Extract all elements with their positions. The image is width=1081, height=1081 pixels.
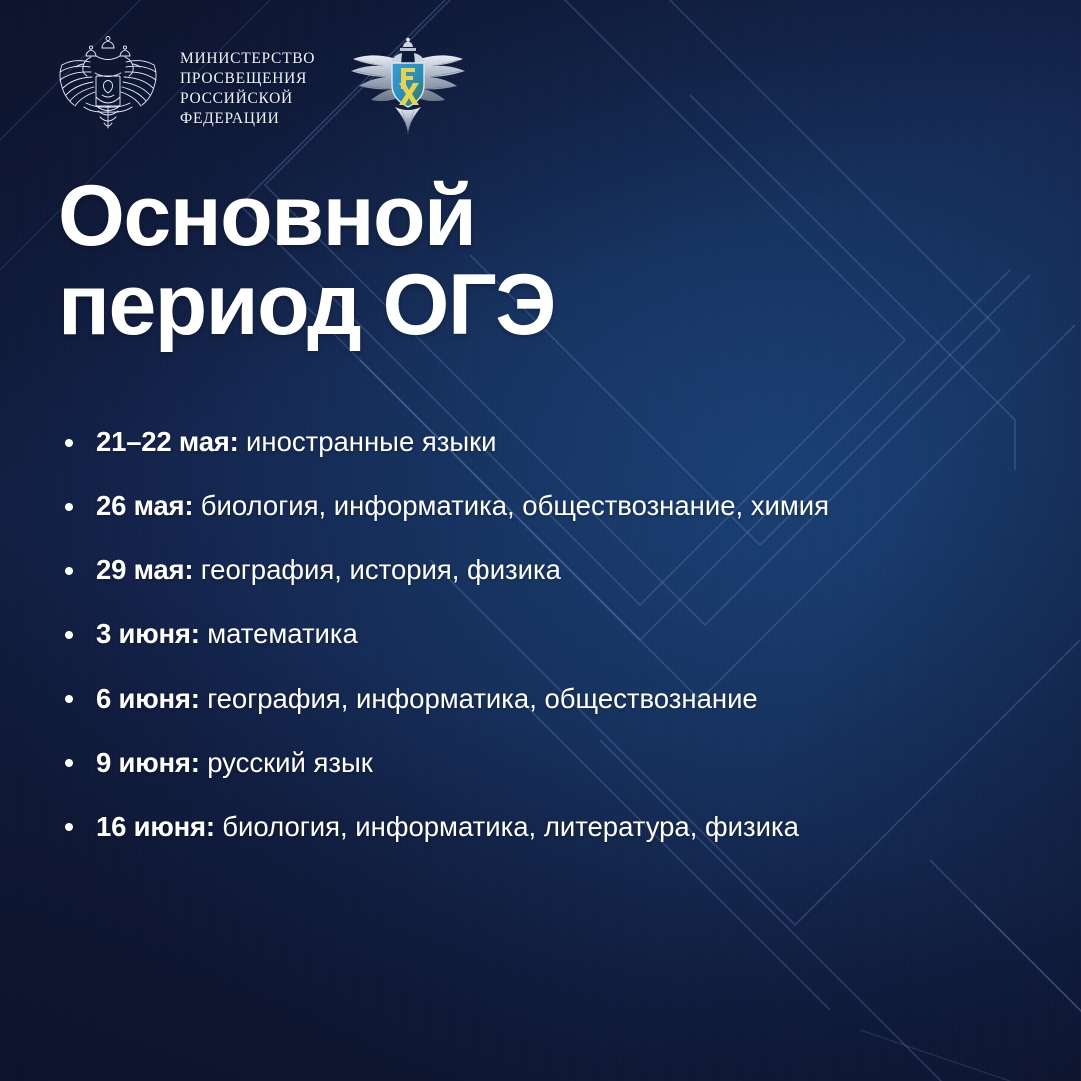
list-item: 29 мая: география, история, физика (60, 550, 1060, 590)
poster-root: МИНИСТЕРСТВО ПРОСВЕЩЕНИЯ РОССИЙСКОЙ ФЕДЕ… (0, 0, 1081, 1081)
exam-date: 26 мая: (96, 490, 201, 521)
list-item: 6 июня: география, информатика, общество… (60, 679, 1060, 719)
ministry-name: МИНИСТЕРСТВО ПРОСВЕЩЕНИЯ РОССИЙСКОЙ ФЕДЕ… (180, 49, 315, 130)
exam-date: 21–22 мая: (96, 426, 246, 457)
page-title: Основной период ОГЭ (58, 172, 918, 351)
list-item: 26 мая: биология, информатика, обществоз… (60, 486, 1060, 526)
winged-shield-icon (347, 37, 469, 141)
exam-subjects: иностранные языки (246, 426, 497, 457)
exam-date: 6 июня: (96, 683, 207, 714)
bullet-icon (65, 823, 73, 831)
ministry-name-line-3: РОССИЙСКОЙ (180, 89, 315, 109)
bullet-icon (65, 567, 73, 575)
page-title-line-1: Основной (58, 172, 918, 261)
exam-date: 3 июня: (96, 618, 207, 649)
bullet-icon (65, 631, 73, 639)
exam-subjects: математика (207, 618, 358, 649)
exam-date: 29 мая: (96, 554, 201, 585)
header-logos: МИНИСТЕРСТВО ПРОСВЕЩЕНИЯ РОССИЙСКОЙ ФЕДЕ… (46, 33, 469, 145)
exam-subjects: география, информатика, обществознание (207, 683, 758, 714)
double-headed-eagle-icon (46, 33, 170, 145)
bullet-icon (65, 439, 73, 447)
bullet-icon (65, 759, 73, 767)
exam-schedule-list: 21–22 мая: иностранные языки 26 мая: био… (60, 422, 1060, 847)
exam-subjects: русский язык (207, 747, 373, 778)
exam-date: 9 июня: (96, 747, 207, 778)
ministry-name-line-4: ФЕДЕРАЦИИ (180, 109, 315, 129)
page-title-line-2: период ОГЭ (58, 261, 918, 350)
exam-subjects: география, история, физика (201, 554, 561, 585)
exam-subjects: биология, информатика, литература, физик… (222, 811, 799, 842)
list-item: 16 июня: биология, информатика, литерату… (60, 807, 1060, 847)
list-item: 9 июня: русский язык (60, 743, 1060, 783)
exam-subjects: биология, информатика, обществознание, х… (201, 490, 829, 521)
list-item: 21–22 мая: иностранные языки (60, 422, 1060, 462)
ministry-name-line-2: ПРОСВЕЩЕНИЯ (180, 69, 315, 89)
bullet-icon (65, 695, 73, 703)
exam-date: 16 июня: (96, 811, 222, 842)
list-item: 3 июня: математика (60, 614, 1060, 654)
ministry-name-line-1: МИНИСТЕРСТВО (180, 49, 315, 69)
bullet-icon (65, 503, 73, 511)
